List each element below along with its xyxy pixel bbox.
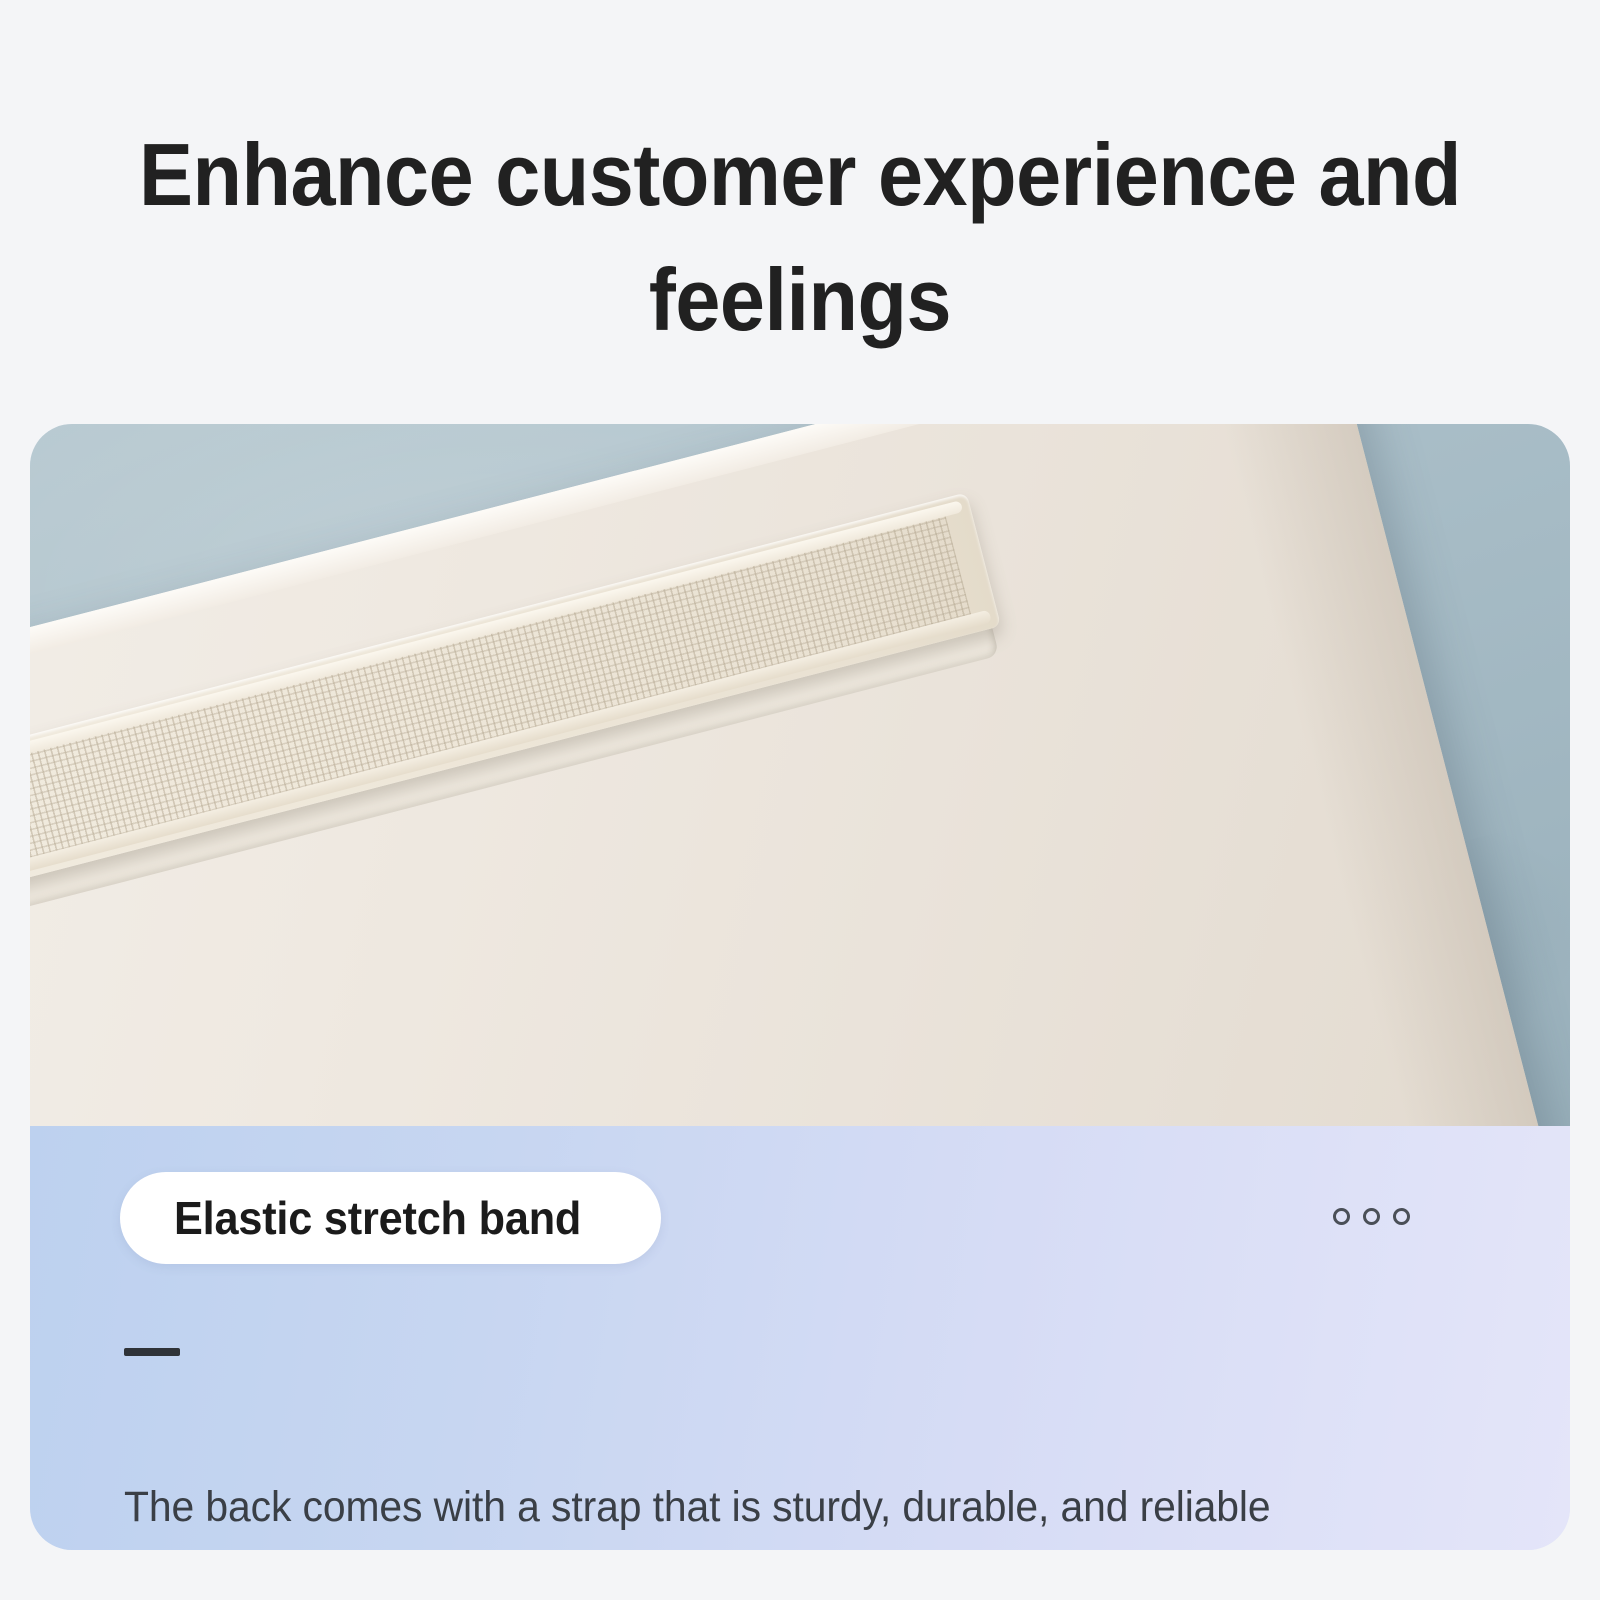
page-title: Enhance customer experience and feelings (64, 113, 1536, 363)
feature-badge-label: Elastic stretch band (174, 1191, 581, 1245)
feature-badge[interactable]: Elastic stretch band (120, 1172, 661, 1264)
info-panel: Elastic stretch band The back comes with… (30, 1126, 1570, 1550)
three-dots-icon[interactable] (1333, 1208, 1410, 1225)
dot-3 (1393, 1208, 1410, 1225)
dot-2 (1363, 1208, 1380, 1225)
feature-card: Elastic stretch band The back comes with… (30, 424, 1570, 1550)
feature-description: The back comes with a strap that is stur… (124, 1481, 1412, 1535)
product-photo (30, 424, 1570, 1126)
dot-1 (1333, 1208, 1350, 1225)
divider-dash (124, 1348, 180, 1356)
